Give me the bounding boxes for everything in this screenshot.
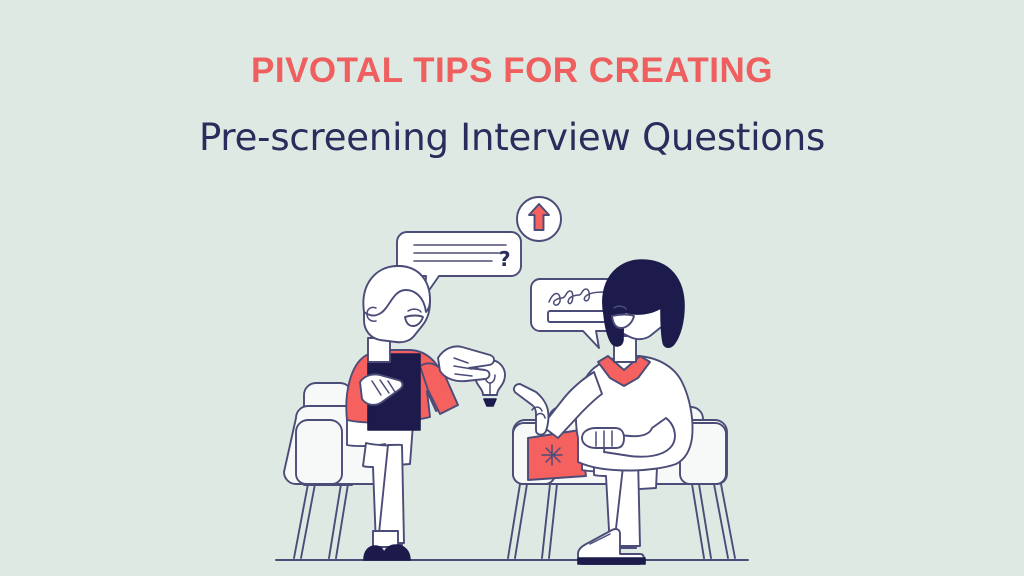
page-title: Pre-screening Interview Questions <box>0 117 1024 160</box>
sofa-leg-1 <box>508 484 520 558</box>
armchair-leg-back <box>294 484 308 558</box>
interviewer-figure <box>346 266 494 560</box>
slide-canvas: PIVOTAL TIPS FOR CREATING Pre-screening … <box>0 0 1024 576</box>
armchair-arm <box>296 420 342 484</box>
interviewer-shoe-1 <box>364 545 410 560</box>
scribble-bubble-bar <box>548 311 606 322</box>
upward-arrow-badge <box>517 197 561 241</box>
title-eyebrow: PIVOTAL TIPS FOR CREATING <box>0 52 1024 91</box>
interview-illustration: .ol { fill:none; stroke:#4b4c78; stroke-… <box>268 186 756 576</box>
sofa-leg-2 <box>542 484 550 558</box>
sofa-leg-4 <box>714 484 728 558</box>
armchair-leg-front <box>329 484 341 558</box>
scribble-speech-bubble <box>531 279 615 348</box>
heading-block: PIVOTAL TIPS FOR CREATING Pre-screening … <box>0 52 1024 159</box>
lightbulb-base <box>484 399 496 406</box>
candidate-hand-resting <box>582 428 624 448</box>
sofa-leg-3 <box>692 484 704 558</box>
lightbulb-icon <box>475 360 505 517</box>
question-mark-glyph: ? <box>499 247 511 271</box>
